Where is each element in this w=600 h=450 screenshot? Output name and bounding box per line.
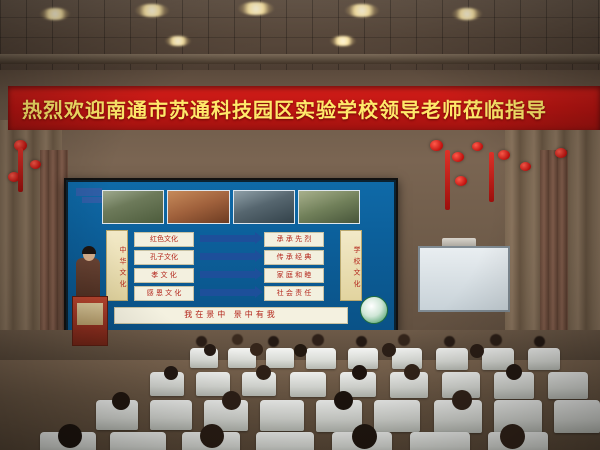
audience-person	[164, 366, 178, 380]
audience-person	[294, 344, 307, 357]
slide-accent-bar	[76, 188, 102, 196]
audience-person	[444, 336, 455, 347]
whiteboard	[418, 246, 510, 312]
slide-row-left: 感 恩 文 化	[134, 286, 194, 301]
audience-chair	[150, 400, 192, 430]
presenter-hair	[82, 246, 96, 254]
audience-chair	[110, 432, 166, 450]
ceiling-light	[452, 8, 482, 20]
audience-person	[356, 336, 367, 347]
slide: 中 华 文 化 学 校 文 化 红色文化 承 承 先 烈 孔子文化 传 承 经 …	[68, 182, 394, 330]
lantern	[520, 162, 531, 171]
audience-person	[334, 391, 353, 410]
audience-person	[398, 334, 410, 346]
audience-person	[534, 336, 545, 347]
audience-person	[112, 392, 130, 410]
ribbon	[445, 150, 450, 210]
audience-person	[222, 391, 241, 410]
welcome-banner: 热烈欢迎南通市苏通科技园区实验学校领导老师莅临指导	[8, 86, 600, 130]
audience-person	[470, 344, 484, 358]
audience-person	[452, 390, 472, 410]
audience-person	[312, 334, 324, 346]
slide-row-left: 红色文化	[134, 232, 194, 247]
audience-person	[490, 334, 502, 346]
slide-arrow	[200, 253, 256, 260]
audience-chair	[306, 348, 336, 369]
audience-chair	[554, 400, 600, 433]
audience-person	[232, 334, 243, 345]
lantern	[452, 152, 464, 162]
slide-row-left: 孝 文 化	[134, 268, 194, 283]
audience-chair	[266, 348, 294, 368]
audience-person	[58, 424, 82, 448]
lantern	[455, 176, 467, 186]
audience-person	[506, 364, 522, 380]
slide-row-right: 家 庭 和 睦	[264, 268, 324, 283]
slide-photo	[102, 190, 164, 224]
slide-photo	[298, 190, 360, 224]
audience-chair	[290, 372, 326, 397]
audience-person	[352, 424, 377, 449]
audience-chair	[436, 348, 468, 370]
audience-person	[500, 424, 525, 449]
projection-screen: 中 华 文 化 学 校 文 化 红色文化 承 承 先 烈 孔子文化 传 承 经 …	[64, 178, 398, 334]
school-emblem-icon	[360, 296, 388, 324]
slide-row-right: 传 承 经 典	[264, 250, 324, 265]
podium-panel	[77, 303, 103, 325]
audience-chair	[548, 372, 588, 399]
audience-chair	[256, 432, 314, 450]
audience-person	[200, 424, 224, 448]
slide-photo	[167, 190, 229, 224]
auditorium-photo: 热烈欢迎南通市苏通科技园区实验学校领导老师莅临指导 中 华 文 化 学 校 文 …	[0, 0, 600, 450]
slide-photo	[233, 190, 295, 224]
ceiling-light	[40, 8, 70, 20]
ceiling-grid	[0, 0, 600, 78]
audience-person	[352, 365, 367, 380]
curtain-right	[540, 150, 568, 350]
ceiling-light	[345, 4, 379, 17]
audience-person	[268, 336, 279, 347]
audience-chair	[528, 348, 560, 370]
ceiling-light	[135, 4, 169, 17]
ceiling-light	[330, 36, 356, 46]
slide-photo-strip	[102, 190, 360, 224]
lantern	[472, 142, 483, 151]
lantern	[555, 148, 567, 158]
ceiling-light	[165, 36, 191, 46]
slide-arrow	[200, 235, 256, 242]
audience-person	[256, 365, 271, 380]
ribbon	[489, 152, 494, 202]
audience-chair	[410, 432, 470, 450]
audience-person	[250, 343, 263, 356]
audience-person	[382, 343, 396, 357]
lantern	[430, 140, 443, 151]
slide-row-right: 社 会 责 任	[264, 286, 324, 301]
slide-footer-text: 我在景中 景中有我	[114, 307, 348, 324]
lantern	[30, 160, 41, 169]
slide-left-column-label: 中 华 文 化	[106, 230, 128, 301]
slide-arrow	[200, 289, 256, 296]
slide-row-right: 承 承 先 烈	[264, 232, 324, 247]
banner-text: 热烈欢迎南通市苏通科技园区实验学校领导老师莅临指导	[8, 94, 547, 123]
ceiling	[0, 0, 600, 78]
audience-person	[204, 344, 216, 356]
ceiling-beam	[0, 54, 600, 64]
slide-right-column-label: 学 校 文 化	[340, 230, 362, 301]
audience-chair	[260, 400, 304, 431]
audience-person	[404, 364, 420, 380]
ribbon	[18, 148, 23, 192]
lantern	[498, 150, 510, 160]
slide-arrow	[200, 271, 256, 278]
slide-row-left: 孔子文化	[134, 250, 194, 265]
audience-chair	[374, 400, 420, 432]
podium	[72, 296, 108, 346]
ceiling-light	[238, 2, 274, 15]
slide-accent-bar-2	[82, 197, 102, 203]
